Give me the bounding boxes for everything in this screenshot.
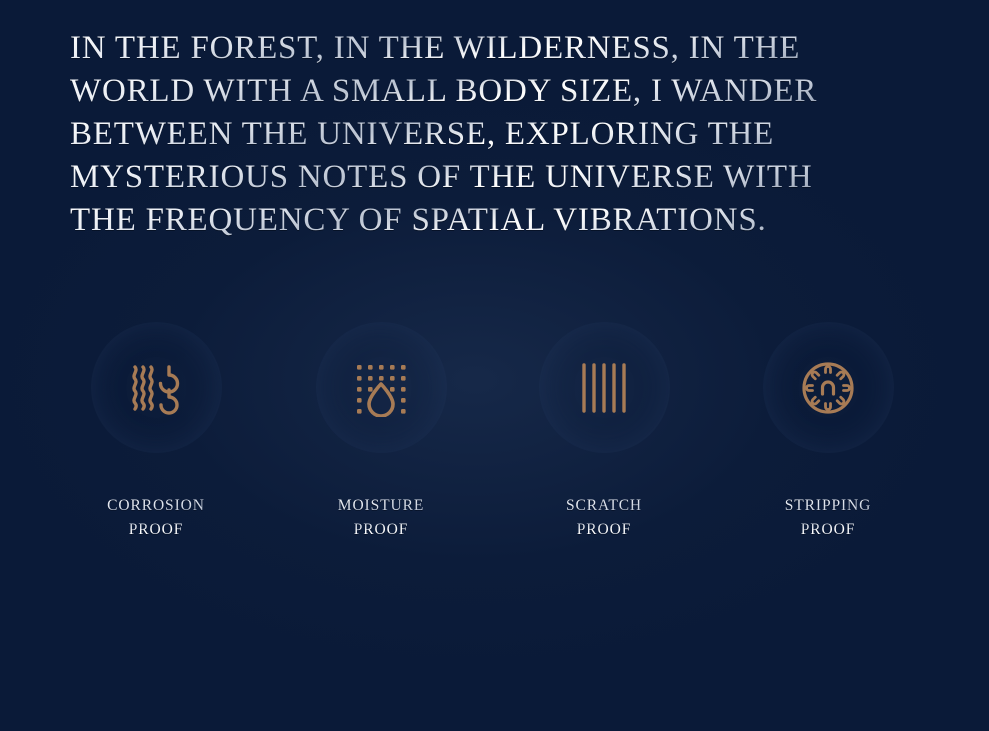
feature-icon-circle [91,322,222,453]
feature-label-line1: CORROSION [107,497,205,514]
feature-item-scratch-proof[interactable]: SCRATCH PROOF [514,322,694,542]
feature-label: MOISTURE PROOF [291,494,471,542]
corrosion-waves-icon [128,359,184,417]
feature-label: STRIPPING PROOF [738,494,918,542]
feature-label-line1: STRIPPING [785,497,871,514]
droplet-shape [369,384,393,416]
feature-label: CORROSION PROOF [66,494,246,542]
feature-label-line2: PROOF [514,518,694,542]
feature-label-line2: PROOF [66,518,246,542]
feature-label: SCRATCH PROOF [514,494,694,542]
scratch-lines-icon [576,359,632,417]
stripping-ring-icon [800,359,856,417]
headline-line-5: THE FREQUENCY OF SPATIAL VIBRATIONS. [70,199,950,242]
feature-label-line2: PROOF [291,518,471,542]
feature-item-stripping-proof[interactable]: STRIPPING PROOF [738,322,918,542]
feature-label-line1: MOISTURE [338,497,424,514]
feature-label-line2: PROOF [738,518,918,542]
feature-list: CORROSION PROOF [0,322,989,542]
headline-line-1: IN THE FOREST, IN THE WILDERNESS, IN THE [70,27,950,70]
feature-icon-circle [316,322,447,453]
feature-item-corrosion-proof[interactable]: CORROSION PROOF [66,322,246,542]
feature-icon-circle [539,322,670,453]
feature-icon-circle [763,322,894,453]
feature-label-line1: SCRATCH [566,497,642,514]
moisture-droplet-grid-icon [353,359,409,417]
headline-line-4: MYSTERIOUS NOTES OF THE UNIVERSE WITH [70,156,950,199]
feature-item-moisture-proof[interactable]: MOISTURE PROOF [291,322,471,542]
headline-line-3: BETWEEN THE UNIVERSE, EXPLORING THE [70,113,950,156]
headline: IN THE FOREST, IN THE WILDERNESS, IN THE… [70,27,950,242]
headline-line-2: WORLD WITH A SMALL BODY SIZE, I WANDER [70,70,950,113]
